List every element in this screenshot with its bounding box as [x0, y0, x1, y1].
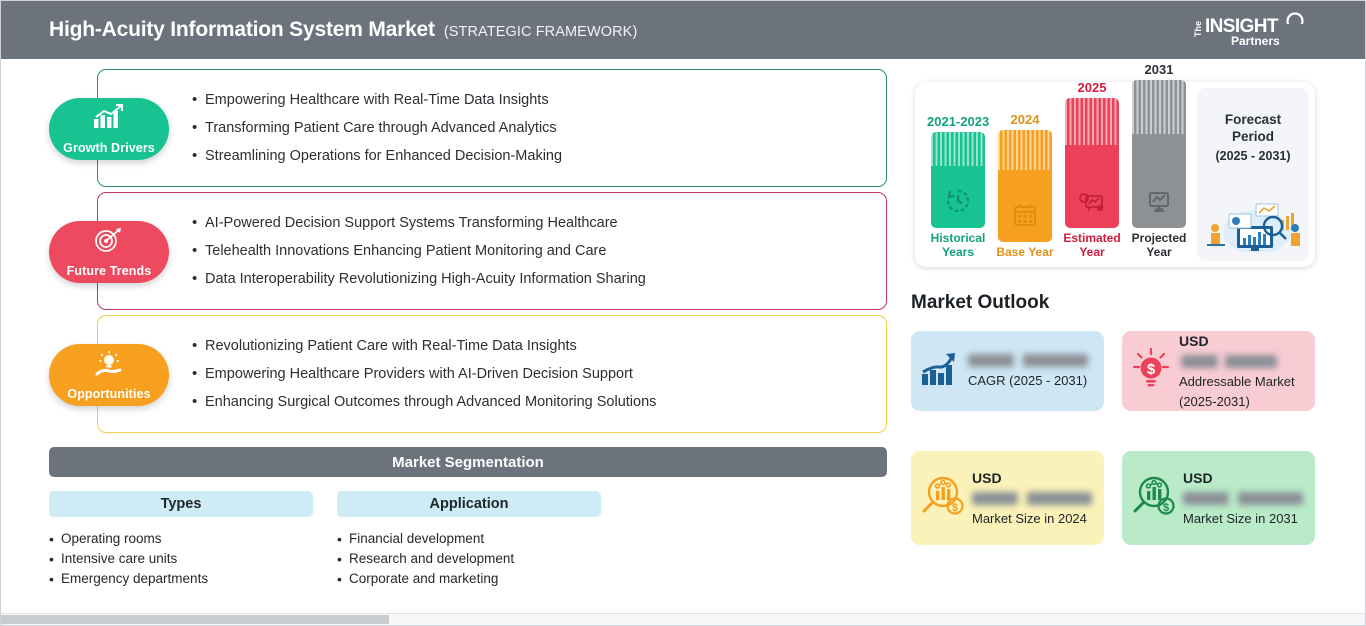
segmentation-application-list: Financial development Research and devel…: [337, 529, 601, 589]
bar-year-label: 2024: [994, 112, 1056, 127]
addressable-value-blurred: [1181, 355, 1277, 368]
list-item: Empowering Healthcare Providers with AI-…: [192, 360, 886, 388]
horizontal-scrollbar-thumb[interactable]: [1, 615, 389, 624]
bar-caption: Projected Year: [1128, 232, 1190, 259]
badge-label: Growth Drivers: [63, 141, 155, 155]
insight-partners-logo[interactable]: The INSIGHT Partners: [1187, 11, 1309, 51]
segmentation-column-header: Types: [161, 496, 202, 512]
target-dart-icon: [92, 227, 126, 258]
segmentation-column-application: Application Financial development Resear…: [337, 491, 601, 589]
magnifier-chart-dollar-icon: $: [1130, 474, 1176, 523]
bar-year-label: 2025: [1061, 80, 1123, 95]
forecast-period-title: Forecast Period: [1197, 111, 1309, 145]
list-item: AI-Powered Decision Support Systems Tran…: [192, 209, 886, 237]
forecast-period-range: (2025 - 2031): [1197, 149, 1309, 163]
bar-estimated: [1065, 98, 1119, 228]
bar-group-estimated: 2025 Estimated: [1061, 80, 1123, 259]
list-item: Operating rooms: [49, 529, 313, 549]
market-segmentation-title: Market Segmentation: [392, 454, 544, 471]
outlook-card-label: Addressable Market (2025-2031): [1179, 372, 1306, 412]
segmentation-pill-types[interactable]: Types: [49, 491, 313, 517]
segmentation-types-list: Operating rooms Intensive care units Eme…: [49, 529, 313, 589]
future-trends-box: AI-Powered Decision Support Systems Tran…: [97, 192, 887, 310]
list-item: Financial development: [337, 529, 601, 549]
outlook-card-label: CAGR (2025 - 2031): [968, 371, 1088, 391]
svg-text:$: $: [1147, 361, 1156, 378]
page-title: High-Acuity Information System Market: [49, 18, 435, 42]
bar-stripe-overlay: [1132, 80, 1186, 134]
usd-prefix: USD: [1183, 470, 1213, 486]
badge-growth-drivers[interactable]: Growth Drivers: [49, 98, 169, 160]
cagr-value-blurred: [968, 354, 1088, 367]
section-growth-drivers: Empowering Healthcare with Real-Time Dat…: [97, 69, 887, 187]
market-size-2031-value-blurred: [1183, 492, 1303, 505]
bar-year-label: 2031: [1128, 62, 1190, 77]
forecast-gear-chart-icon: [1078, 188, 1106, 219]
data-analytics-illustration: [1201, 196, 1305, 257]
market-outlook-title: Market Outlook: [911, 292, 1049, 314]
growth-arrow-chart-icon: [919, 350, 961, 393]
horizontal-scrollbar[interactable]: [1, 613, 1366, 625]
dollar-bulb-icon: $: [1130, 347, 1172, 396]
bar-group-projected: 2031 Projected: [1128, 62, 1190, 259]
calendar-icon: [1012, 202, 1038, 233]
section-opportunities: Revolutionizing Patient Care with Real-T…: [97, 315, 887, 433]
bar-base: [998, 130, 1052, 242]
future-trends-bullets: AI-Powered Decision Support Systems Tran…: [192, 209, 886, 293]
bar-caption: Historical Years: [927, 232, 989, 259]
bar-year-label: 2021-2023: [927, 114, 989, 129]
outlook-card-addressable-market[interactable]: $ USD Addressable Market (2025-2031): [1122, 331, 1315, 411]
outlook-card-label: Market Size in 2031: [1183, 509, 1303, 529]
logo-the-text: The: [1193, 21, 1203, 37]
list-item: Emergency departments: [49, 569, 313, 589]
history-clock-icon: [945, 188, 971, 219]
logo-partners-text: Partners: [1231, 34, 1280, 48]
list-item: Empowering Healthcare with Real-Time Dat…: [192, 86, 886, 114]
badge-label: Opportunities: [67, 387, 150, 401]
list-item: Streamlining Operations for Enhanced Dec…: [192, 142, 886, 170]
badge-opportunities[interactable]: Opportunities: [49, 344, 169, 406]
bar-caption: Estimated Year: [1061, 232, 1123, 259]
list-item: Corporate and marketing: [337, 569, 601, 589]
bar-projected: [1132, 80, 1186, 228]
bar-group-base: 2024: [994, 112, 1056, 260]
forecast-period-panel: Forecast Period (2025 - 2031): [1197, 88, 1309, 261]
svg-text:$: $: [1163, 502, 1169, 514]
list-item: Enhancing Surgical Outcomes through Adva…: [192, 388, 886, 416]
bar-group-historical: 2021-2023 Historical Years: [927, 114, 989, 259]
presentation-chart-icon: [1145, 188, 1173, 219]
outlook-card-text: USD Market Size in 2024: [972, 468, 1092, 529]
page-subtitle: (STRATEGIC FRAMEWORK): [444, 24, 638, 40]
badge-label: Future Trends: [67, 264, 152, 278]
outlook-card-label: Market Size in 2024: [972, 509, 1092, 529]
bar-chart-growth-icon: [91, 104, 127, 135]
list-item: Telehealth Innovations Enhancing Patient…: [192, 237, 886, 265]
bar-stripe-overlay: [1065, 98, 1119, 145]
bar-stripe-overlay: [998, 130, 1052, 170]
badge-future-trends[interactable]: Future Trends: [49, 221, 169, 283]
usd-prefix: USD: [1179, 333, 1209, 349]
growth-drivers-box: Empowering Healthcare with Real-Time Dat…: [97, 69, 887, 187]
market-segmentation-header: Market Segmentation: [49, 447, 887, 477]
list-item: Intensive care units: [49, 549, 313, 569]
section-future-trends: AI-Powered Decision Support Systems Tran…: [97, 192, 887, 310]
header-title-wrap: High-Acuity Information System Market (S…: [49, 18, 637, 42]
forecast-bars: 2021-2023 Historical Years: [927, 82, 1197, 267]
outlook-card-market-size-2024[interactable]: $ USD Market Size in 2024: [911, 451, 1104, 545]
market-framework-page: High-Acuity Information System Market (S…: [0, 0, 1366, 626]
segmentation-pill-application[interactable]: Application: [337, 491, 601, 517]
page-header: High-Acuity Information System Market (S…: [1, 1, 1366, 59]
outlook-card-cagr[interactable]: CAGR (2025 - 2031): [911, 331, 1104, 411]
list-item: Data Interoperability Revolutionizing Hi…: [192, 265, 886, 293]
svg-text:$: $: [952, 502, 958, 514]
forecast-title-line1: Forecast: [1225, 112, 1281, 127]
lightbulb-hand-icon: [90, 350, 128, 383]
bar-historical: [931, 132, 985, 228]
list-item: Research and development: [337, 549, 601, 569]
forecast-title-line2: Period: [1232, 129, 1274, 144]
left-column: Empowering Healthcare with Real-Time Dat…: [1, 59, 901, 619]
outlook-card-text: USD Market Size in 2031: [1183, 468, 1303, 529]
market-size-2024-value-blurred: [972, 492, 1092, 505]
list-item: Revolutionizing Patient Care with Real-T…: [192, 332, 886, 360]
opportunities-bullets: Revolutionizing Patient Care with Real-T…: [192, 332, 886, 416]
outlook-card-market-size-2031[interactable]: $ USD Market Size in 2031: [1122, 451, 1315, 545]
right-column: 2021-2023 Historical Years: [906, 59, 1366, 619]
bar-stripe-overlay: [931, 132, 985, 166]
usd-prefix: USD: [972, 470, 1002, 486]
bar-caption: Base Year: [994, 246, 1056, 260]
outlook-card-text: CAGR (2025 - 2031): [968, 351, 1088, 391]
segmentation-column-types: Types Operating rooms Intensive care uni…: [49, 491, 313, 589]
growth-drivers-bullets: Empowering Healthcare with Real-Time Dat…: [192, 86, 886, 170]
list-item: Transforming Patient Care through Advanc…: [192, 114, 886, 142]
segmentation-column-header: Application: [430, 496, 509, 512]
forecast-chart-card: 2021-2023 Historical Years: [915, 82, 1315, 267]
magnifier-chart-dollar-icon: $: [919, 474, 965, 523]
outlook-card-text: USD Addressable Market (2025-2031): [1179, 331, 1306, 412]
opportunities-box: Revolutionizing Patient Care with Real-T…: [97, 315, 887, 433]
